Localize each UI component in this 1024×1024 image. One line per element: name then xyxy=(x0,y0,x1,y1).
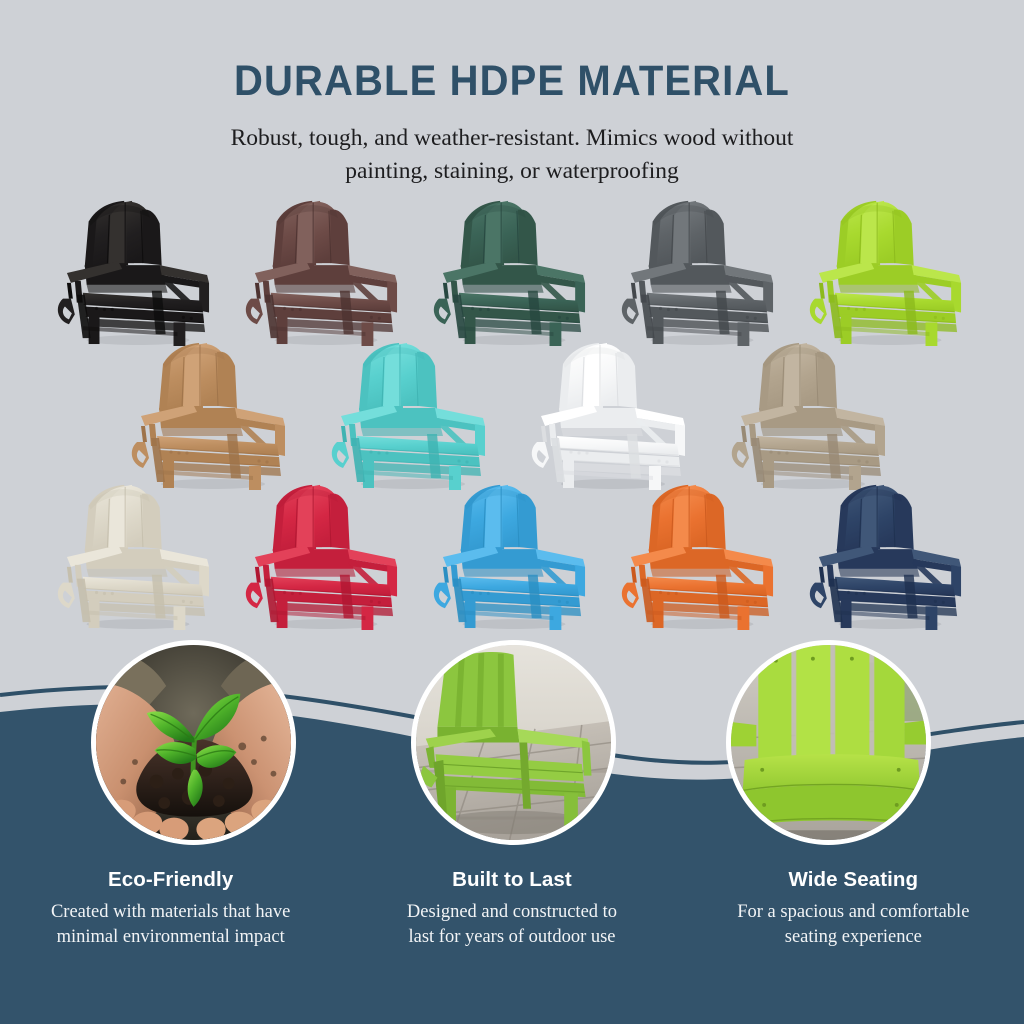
chair-swatch-teak[interactable] xyxy=(123,338,301,490)
feature-photo-wide-seating xyxy=(726,640,931,845)
chair-swatch-white[interactable] xyxy=(523,338,701,490)
chair-swatch-gray[interactable] xyxy=(616,196,786,346)
feature-desc-line-2: seating experience xyxy=(701,925,1006,950)
hero-subtitle: Robust, tough, and weather-resistant. Mi… xyxy=(0,106,1024,189)
chair-row-1 xyxy=(2,196,1024,346)
feature-title: Wide Seating xyxy=(701,868,1006,892)
lime-chair-seat-closeup-photo xyxy=(731,645,926,840)
chair-swatch-weathered[interactable] xyxy=(723,338,901,490)
feature-built-to-last: Built to Last Designed and constructed t… xyxy=(341,868,682,949)
chair-swatch-turquoise[interactable] xyxy=(323,338,501,490)
chair-swatch-brown[interactable] xyxy=(240,196,410,346)
feature-photo-eco-friendly xyxy=(91,640,296,845)
lime-chair-patio-photo xyxy=(416,645,611,840)
hero-subtitle-line-1: Robust, tough, and weather-resistant. Mi… xyxy=(0,122,1024,155)
feature-eco-friendly: Eco-Friendly Created with materials that… xyxy=(0,868,341,949)
chair-row-2 xyxy=(0,338,1024,490)
chair-color-grid xyxy=(0,196,1024,630)
promo-graphic: DURABLE HDPE MATERIAL Robust, tough, and… xyxy=(0,0,1024,1024)
chair-swatch-red[interactable] xyxy=(240,480,410,630)
chair-swatch-light-blue[interactable] xyxy=(428,480,598,630)
feature-wide-seating: Wide Seating For a spacious and comforta… xyxy=(683,868,1024,949)
chair-swatch-lime-green[interactable] xyxy=(804,196,974,346)
page-title: DURABLE HDPE MATERIAL xyxy=(36,0,988,106)
hands-seedling-photo xyxy=(96,645,291,840)
feature-photo-built-to-last xyxy=(411,640,616,845)
chair-swatch-black[interactable] xyxy=(52,196,222,346)
feature-desc-line-2: last for years of outdoor use xyxy=(359,925,664,950)
feature-title: Eco-Friendly xyxy=(18,868,323,892)
hero-section: DURABLE HDPE MATERIAL Robust, tough, and… xyxy=(0,0,1024,189)
feature-description: Created with materials that have minimal… xyxy=(18,900,323,949)
feature-title: Built to Last xyxy=(359,868,664,892)
chair-swatch-orange[interactable] xyxy=(616,480,786,630)
feature-desc-line-1: Designed and constructed to xyxy=(359,900,664,925)
chair-row-3 xyxy=(2,480,1024,630)
feature-list: Eco-Friendly Created with materials that… xyxy=(0,868,1024,949)
feature-description: For a spacious and comfortable seating e… xyxy=(701,900,1006,949)
chair-swatch-dark-green[interactable] xyxy=(428,196,598,346)
chair-swatch-navy-blue[interactable] xyxy=(804,480,974,630)
feature-description: Designed and constructed to last for yea… xyxy=(359,900,664,949)
hero-subtitle-line-2: painting, staining, or waterproofing xyxy=(0,155,1024,188)
chair-swatch-ivory[interactable] xyxy=(52,480,222,630)
feature-desc-line-1: Created with materials that have xyxy=(18,900,323,925)
feature-desc-line-1: For a spacious and comfortable xyxy=(701,900,1006,925)
feature-desc-line-2: minimal environmental impact xyxy=(18,925,323,950)
